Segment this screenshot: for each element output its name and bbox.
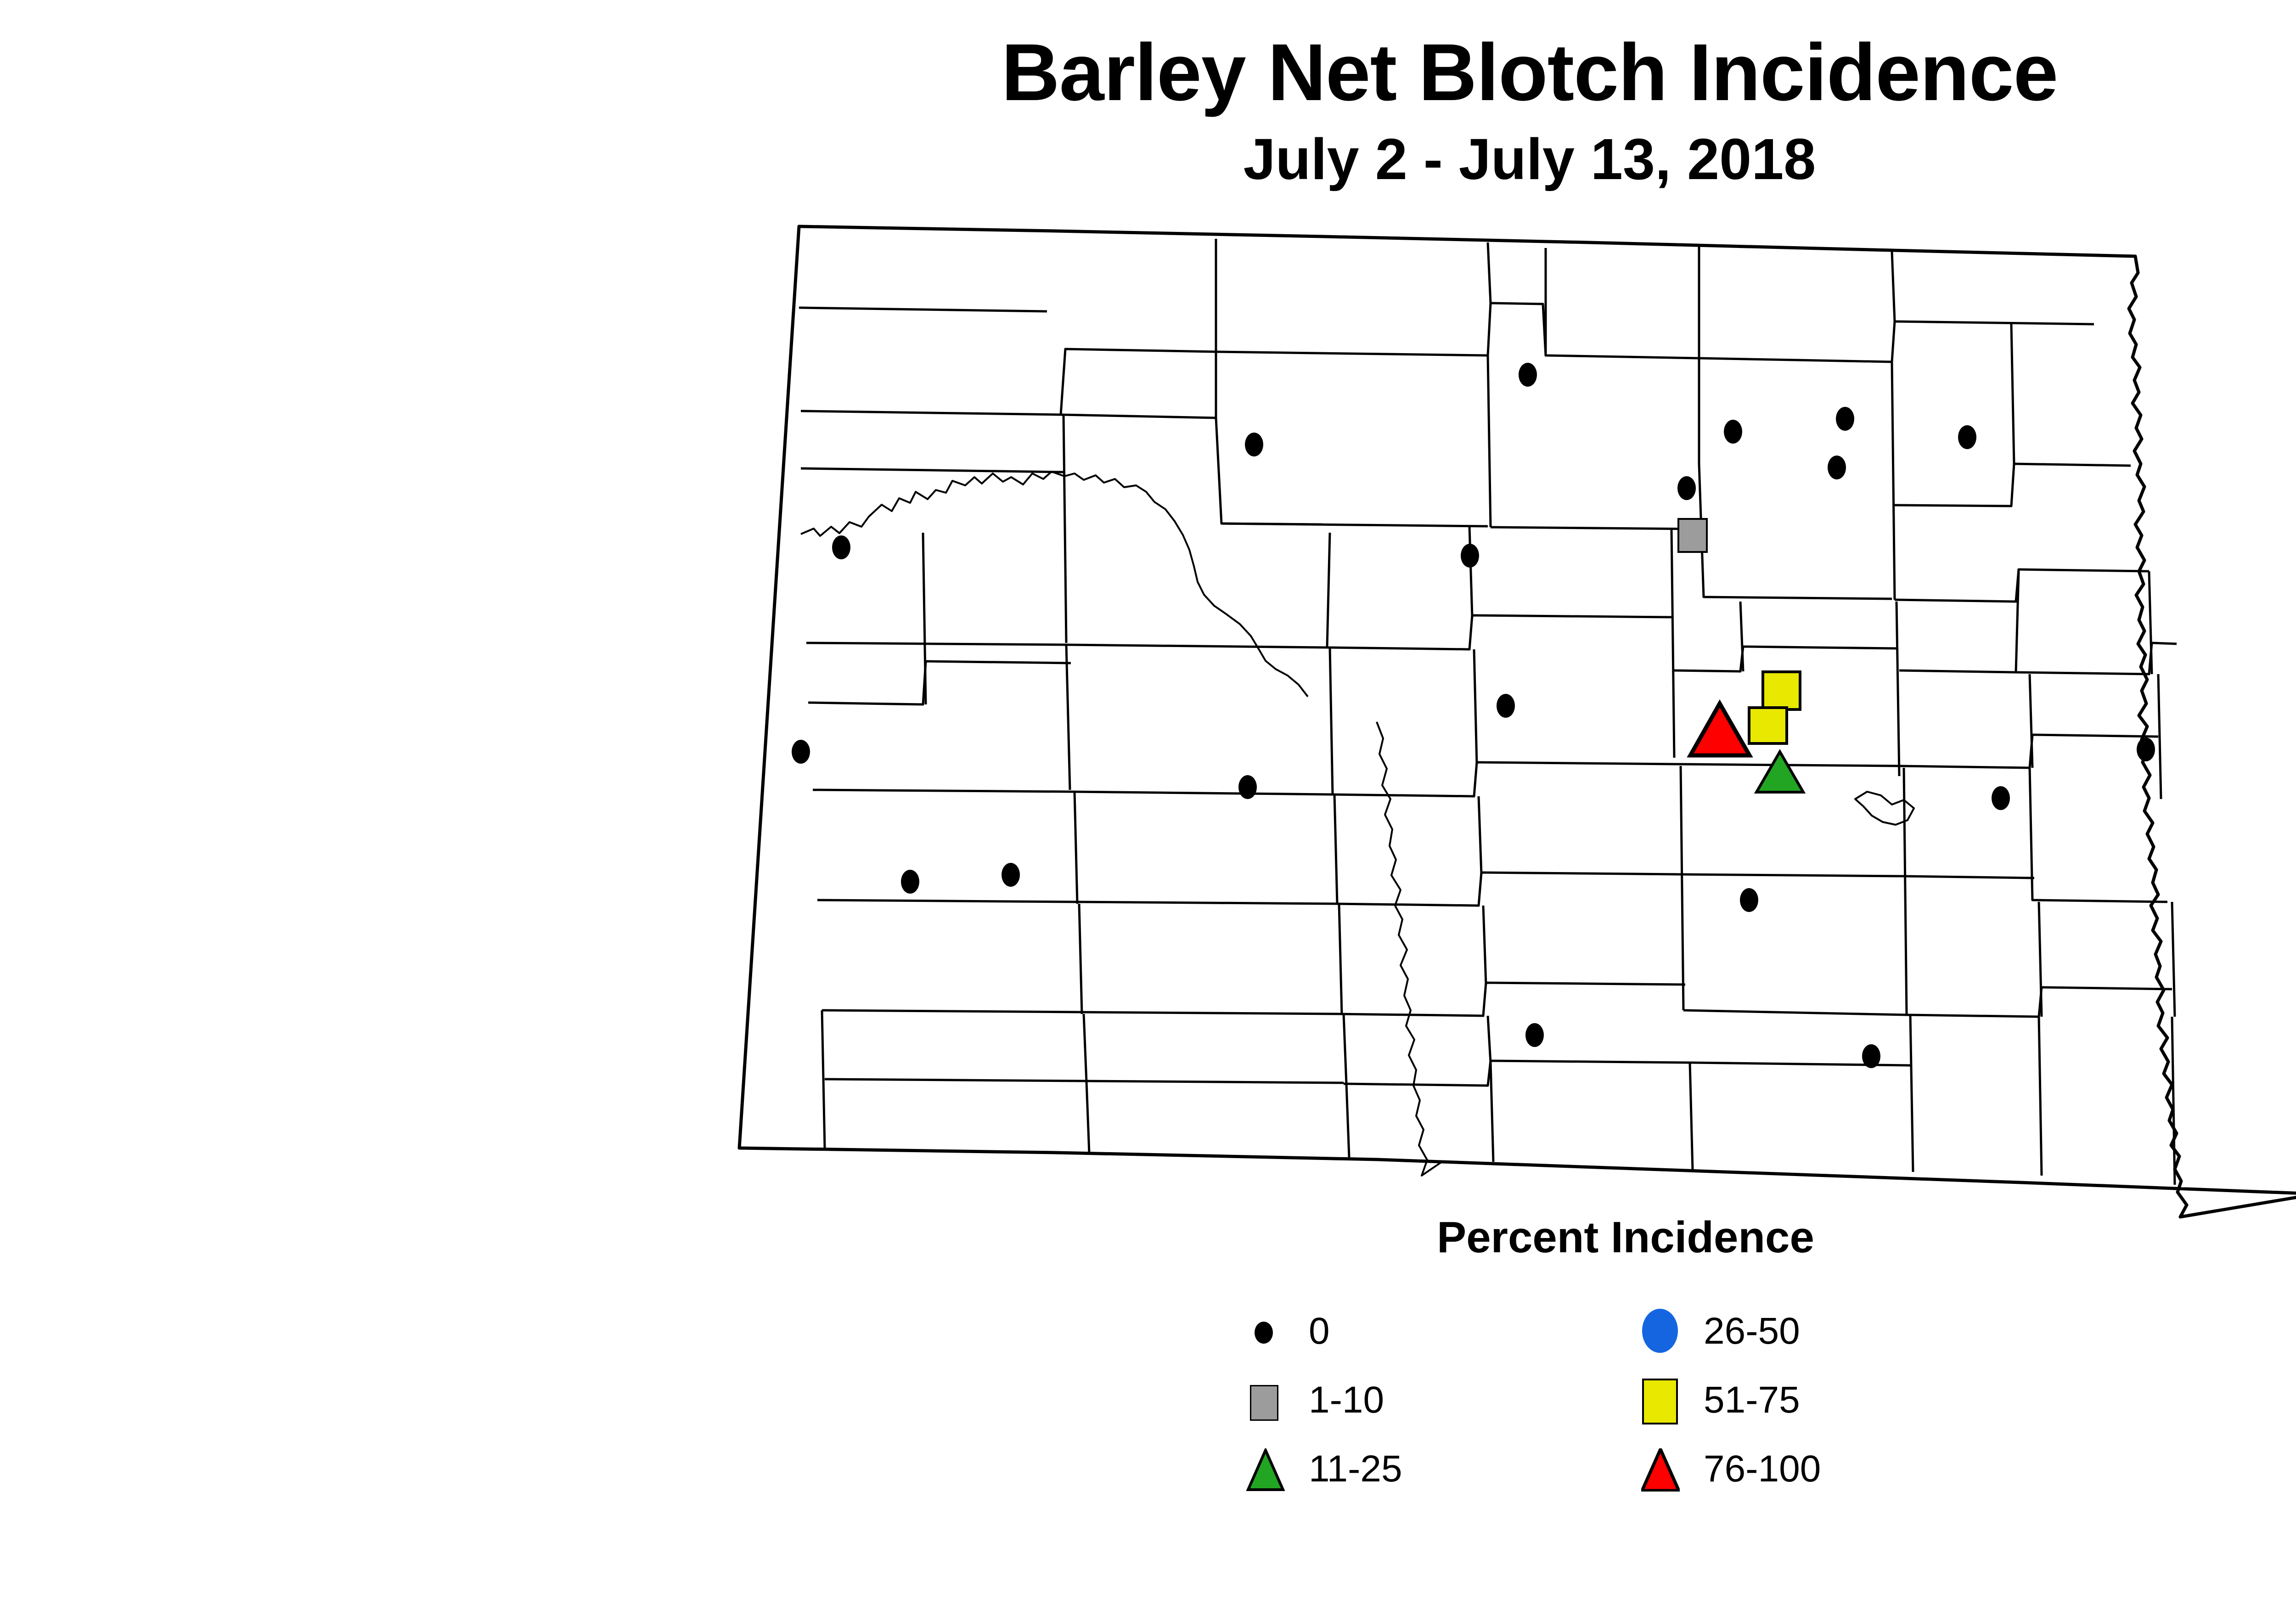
marker-incidence-1-10[interactable] <box>1678 519 1707 552</box>
marker-incidence-0[interactable] <box>1992 786 2010 810</box>
county-line-d4 <box>1474 649 1477 764</box>
county-line-e3 <box>1334 794 1337 904</box>
county-line-f20 <box>1491 1063 1493 1162</box>
county-line-c8 <box>1671 529 1674 758</box>
county-line-n6 <box>1488 242 1491 303</box>
legend-label: 26-50 <box>1704 1312 1800 1350</box>
county-line-n5 <box>1216 303 1699 358</box>
county-line-f9 <box>2172 902 2175 1017</box>
marker-incidence-0[interactable] <box>1836 407 1854 431</box>
county-line-n10 <box>1892 252 1895 321</box>
county-line-f6 <box>1683 1010 1907 1015</box>
county-line-c4 <box>808 661 1071 704</box>
county-line-f13 <box>1344 1061 1690 1086</box>
circle-small-icon <box>1240 1305 1290 1356</box>
county-line-m8 <box>1895 464 2131 506</box>
marker-incidence-0[interactable] <box>1245 433 1263 456</box>
marker-incidence-0[interactable] <box>1677 476 1696 500</box>
triangle-icon <box>1635 1443 1685 1493</box>
circle-large-icon <box>1635 1305 1685 1356</box>
county-line-c9 <box>1674 647 1896 671</box>
marker-incidence-0[interactable] <box>1828 456 1846 479</box>
county-boundaries <box>739 226 2296 1217</box>
marker-incidence-0[interactable] <box>901 870 919 894</box>
incidence-markers <box>792 363 2155 1068</box>
county-line-d2 <box>1330 647 1333 794</box>
county-line-m6 <box>1699 464 1892 599</box>
marker-incidence-51-75[interactable] <box>1749 708 1787 743</box>
marker-incidence-0[interactable] <box>1519 363 1537 387</box>
county-line-e1 <box>817 900 1334 904</box>
county-line-f22 <box>1346 1084 1349 1157</box>
square-large-icon <box>1635 1374 1685 1424</box>
county-line-n2 <box>801 411 1216 418</box>
county-line-f23 <box>822 1010 825 1148</box>
county-line-d6 <box>1899 735 2158 768</box>
county-line-m4 <box>1488 355 1491 527</box>
marker-incidence-0[interactable] <box>1238 775 1257 799</box>
county-line-n1 <box>799 308 1047 311</box>
county-line-c12 <box>1899 571 2019 672</box>
county-line-m5 <box>1491 527 1699 529</box>
county-line-n9 <box>1699 321 2094 362</box>
square-icon <box>1240 1374 1290 1424</box>
county-line-f8 <box>2039 902 2042 1017</box>
marker-incidence-51-75[interactable] <box>1763 672 1800 709</box>
county-line-f5 <box>1483 906 1486 985</box>
marker-incidence-0[interactable] <box>1461 544 1479 568</box>
county-line-c2 <box>1327 533 1330 647</box>
marker-incidence-76-100[interactable] <box>1690 704 1750 755</box>
county-line-e8 <box>1904 768 1907 1015</box>
county-line-m3 <box>1221 524 1488 526</box>
county-line-m1 <box>801 468 1064 472</box>
county-line-c6 <box>1327 615 1671 649</box>
county-line-f17 <box>2039 1017 2042 1176</box>
triangle-icon <box>1240 1443 1290 1493</box>
county-line-f19 <box>1690 1063 1693 1170</box>
county-line-e2 <box>1075 792 1077 904</box>
county-line-f4 <box>1339 983 1685 1016</box>
marker-incidence-11-25[interactable] <box>1756 752 1803 792</box>
county-line-f18 <box>2172 1017 2175 1185</box>
marker-incidence-0[interactable] <box>1497 694 1515 718</box>
county-line-c5 <box>923 533 926 704</box>
county-line-c3 <box>1066 645 1070 790</box>
county-line-n3 <box>1061 349 1216 415</box>
county-line-m2 <box>1064 415 1066 643</box>
county-line-c7 <box>1469 526 1472 617</box>
marker-incidence-0[interactable] <box>832 535 850 559</box>
county-line-c11 <box>1896 602 1899 776</box>
county-line-n11 <box>1216 418 1322 524</box>
marker-incidence-0[interactable] <box>1862 1044 1880 1068</box>
marker-incidence-0[interactable] <box>1740 888 1758 912</box>
county-line-m10 <box>1895 569 2149 602</box>
marker-incidence-0[interactable] <box>1958 425 1976 449</box>
county-line-m9 <box>2011 324 2014 464</box>
county-line-f14 <box>1488 1016 1491 1063</box>
legend-label: 0 <box>1309 1312 1330 1350</box>
county-line-e6 <box>1681 766 1683 1010</box>
missouri-river <box>1377 722 1442 1176</box>
legend-label: 51-75 <box>1704 1381 1800 1419</box>
legend-label: 76-100 <box>1704 1450 1821 1488</box>
marker-incidence-0[interactable] <box>792 740 810 764</box>
county-line-f2 <box>1079 904 1082 1014</box>
county-line-e9 <box>1904 876 2034 878</box>
legend-title: Percent Incidence <box>1281 1212 1970 1263</box>
legend-label: 11-25 <box>1309 1450 1402 1488</box>
county-line-f10 <box>825 1079 1344 1083</box>
county-line-f3 <box>1339 904 1342 1014</box>
marker-incidence-0[interactable] <box>1002 863 1020 887</box>
marker-incidence-0[interactable] <box>1525 1023 1544 1047</box>
state-outline <box>739 226 2296 1217</box>
legend-label: 1-10 <box>1309 1381 1384 1419</box>
county-line-d3 <box>1330 762 1676 796</box>
county-line-f12 <box>1344 1014 1346 1084</box>
marker-incidence-0[interactable] <box>2137 737 2155 761</box>
county-line-m7 <box>1892 362 1895 600</box>
county-line-d8 <box>2158 674 2161 799</box>
county-line-e4 <box>1334 873 1681 906</box>
county-line-f1 <box>822 1010 1339 1014</box>
county-line-e5 <box>1479 796 1481 874</box>
county-line-f21 <box>1086 1082 1089 1154</box>
county-line-f7 <box>1907 987 2172 1017</box>
county-line-f16 <box>1910 1015 1913 1172</box>
legend-items-grid: 0 1-10 11-25 26-50 51-75 76-100 <box>1240 1305 2048 1498</box>
county-line-f11 <box>1084 1014 1086 1082</box>
legend: Percent Incidence 0 1-10 11-25 26-50 51-… <box>1240 1212 2048 1498</box>
marker-incidence-0[interactable] <box>1724 420 1742 444</box>
county-line-e7 <box>1681 874 1904 876</box>
